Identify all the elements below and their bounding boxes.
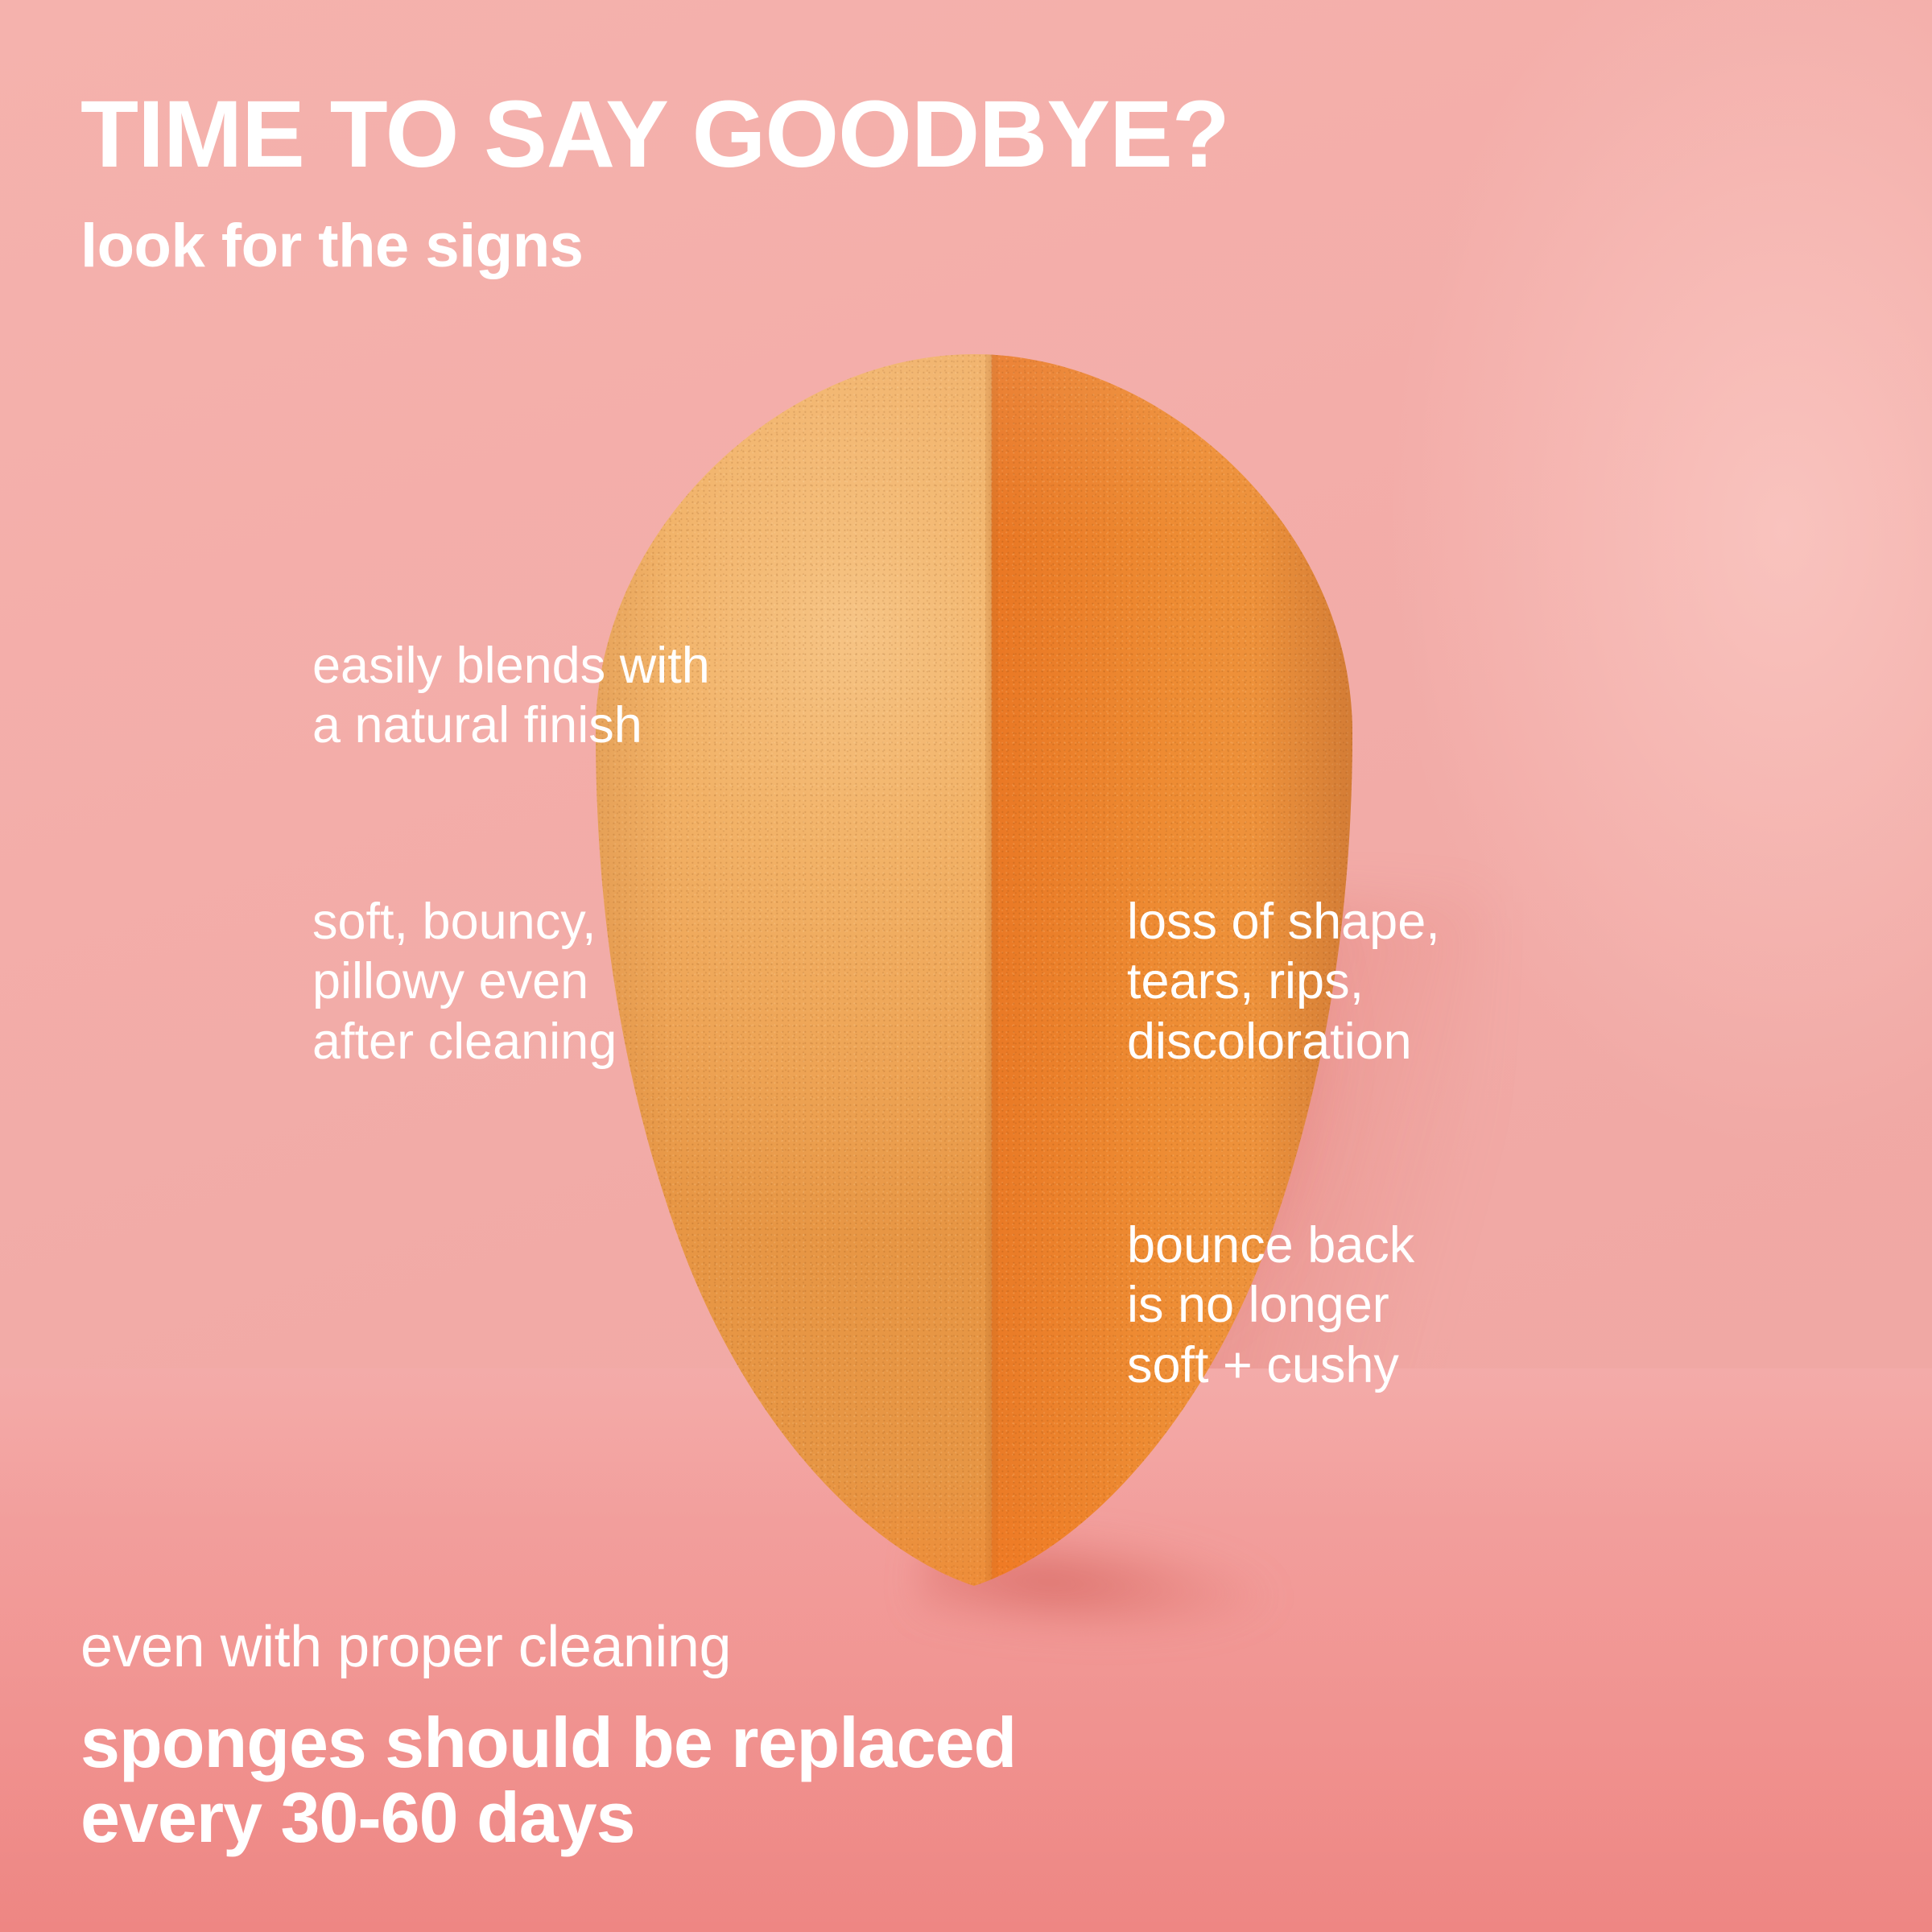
annotation-good-texture: soft, bouncy, pillowy even after cleanin… (312, 892, 617, 1071)
annotation-bad-bounce: bounce back is no longer soft + cushy (1127, 1216, 1414, 1395)
annotation-bad-shape: loss of shape, tears, rips, discoloratio… (1127, 892, 1440, 1071)
footer-caption: even with proper cleaning (80, 1618, 731, 1676)
page-subtitle: look for the signs (80, 216, 583, 277)
page-title: TIME TO SAY GOODBYE? (80, 87, 1229, 182)
infographic-canvas: TIME TO SAY GOODBYE? look for the signs … (0, 0, 1932, 1932)
annotation-good-blending: easily blends with a natural finish (312, 636, 710, 756)
footer-statement: sponges should be replaced every 30-60 d… (80, 1705, 1016, 1856)
